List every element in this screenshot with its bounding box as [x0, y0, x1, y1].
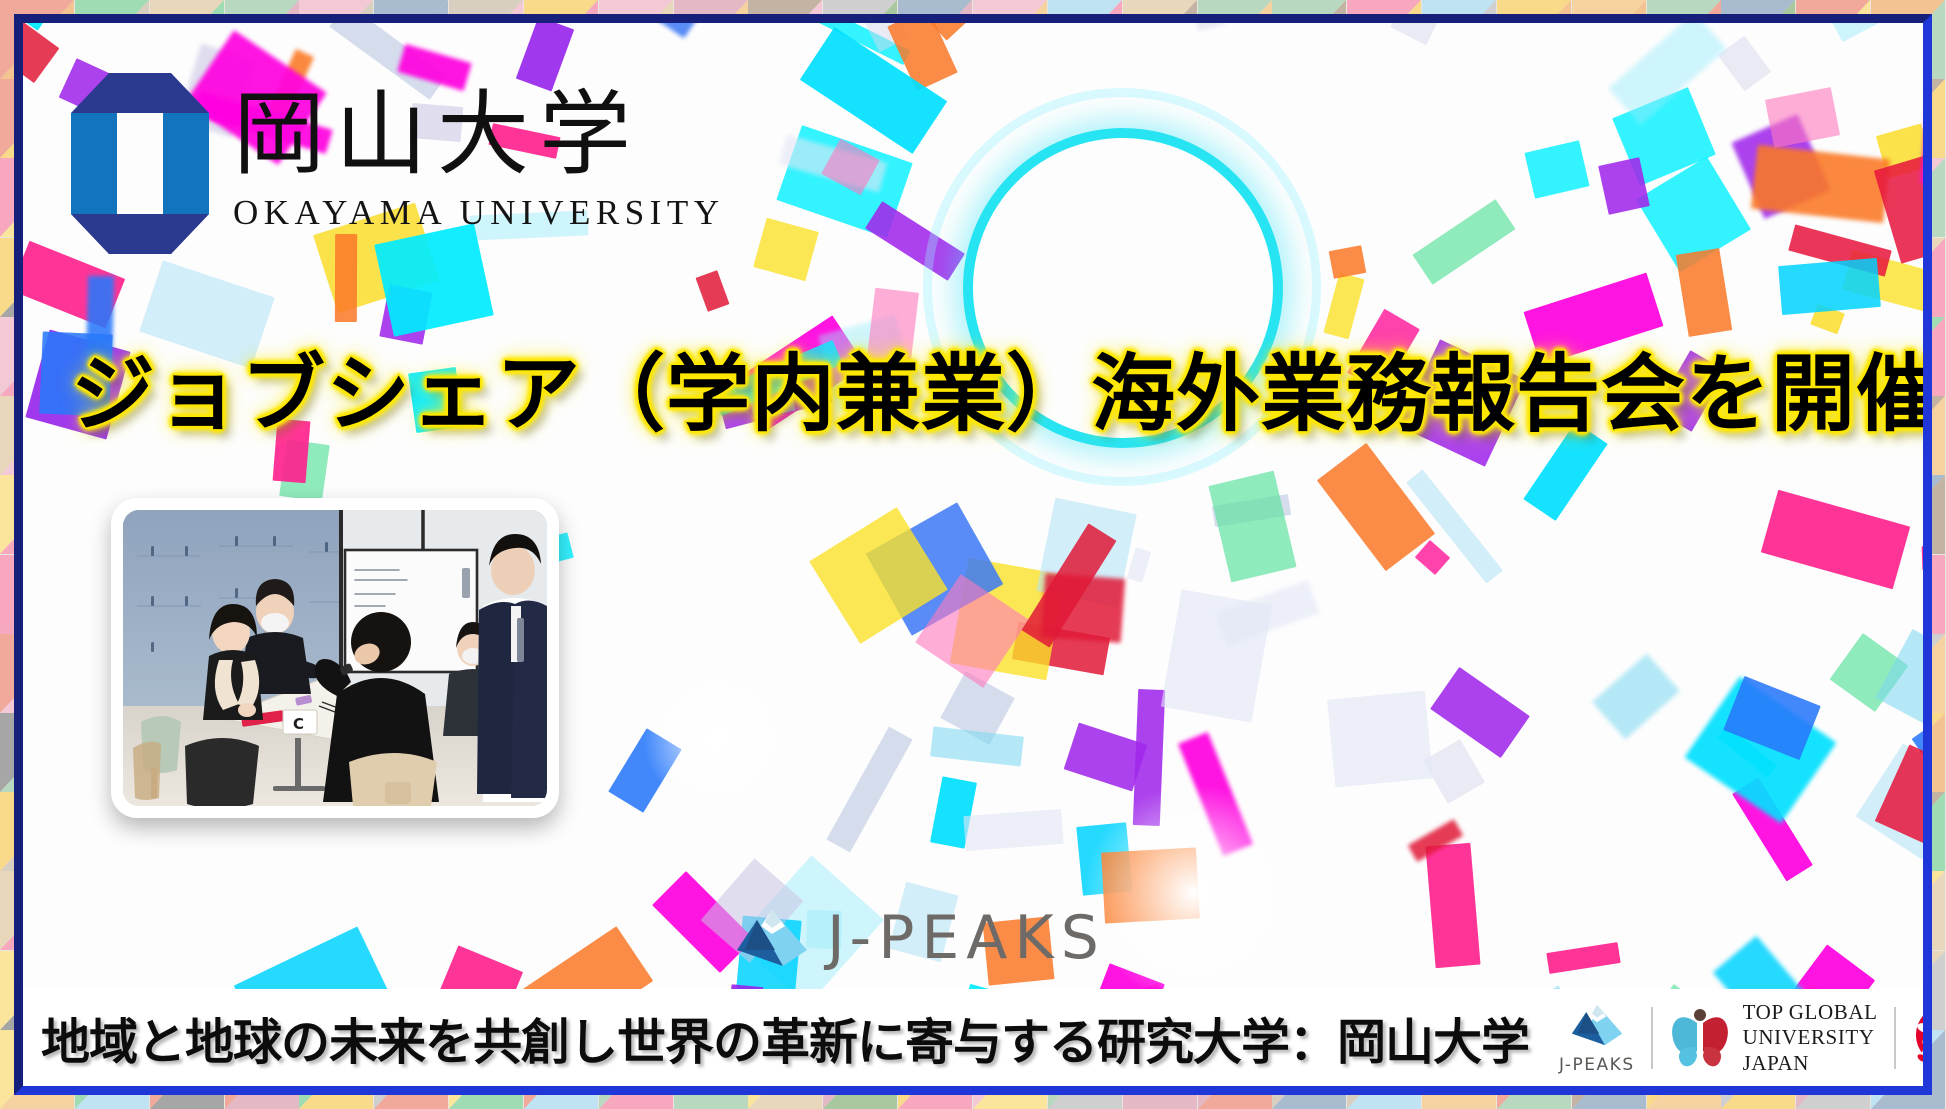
event-photo-card: C — [111, 498, 559, 818]
glow-dot — [643, 663, 793, 813]
j-peaks-mountain-icon — [1570, 1002, 1624, 1053]
glow-dot — [1083, 783, 1303, 1003]
page-title: ジョブシェア（学内兼業）海外業務報告会を開催 — [71, 349, 1871, 440]
header-university-logo: 岡山大学 OKAYAMA UNIVERSITY — [69, 71, 725, 256]
butterfly-icon — [1669, 1003, 1731, 1074]
footer-logo-j-peaks: J-PEAKS — [1543, 999, 1651, 1077]
j-peaks-mountain-icon — [735, 906, 809, 970]
university-name-en: OKAYAMA UNIVERSITY — [233, 193, 725, 233]
top-global-university-text: TOP GLOBAL UNIVERSITY JAPAN — [1743, 1000, 1878, 1077]
sakura-circle-icon — [1912, 1001, 1923, 1076]
footer-logo-japan-sdgs: Japan. Committed to the SDGs — [1896, 999, 1923, 1077]
okayama-octagon-logo-icon — [69, 71, 211, 256]
footer-logo-row: J-PEAKS — [1543, 999, 1923, 1077]
tgu-line-1: TOP GLOBAL — [1743, 1000, 1878, 1026]
footer-logo-top-global-university: TOP GLOBAL UNIVERSITY JAPAN — [1653, 999, 1894, 1077]
poster-root: 岡山大学 OKAYAMA UNIVERSITY ジョブシェア（学内兼業）海外業務… — [0, 0, 1946, 1109]
tgu-line-2: UNIVERSITY — [1743, 1025, 1878, 1051]
poster-card-inner: 岡山大学 OKAYAMA UNIVERSITY ジョブシェア（学内兼業）海外業務… — [23, 23, 1923, 1086]
header-university-text: 岡山大学 OKAYAMA UNIVERSITY — [233, 71, 725, 233]
tgu-line-3: JAPAN — [1743, 1051, 1878, 1077]
event-photo: C — [123, 510, 547, 806]
j-peaks-brand: J-PEAKS — [735, 903, 1106, 973]
j-peaks-wordmark: J-PEAKS — [827, 903, 1106, 973]
svg-text:C: C — [293, 715, 304, 733]
university-name-jp: 岡山大学 — [233, 89, 725, 181]
poster-card: 岡山大学 OKAYAMA UNIVERSITY ジョブシェア（学内兼業）海外業務… — [14, 14, 1932, 1095]
j-peaks-wordmark-small: J-PEAKS — [1559, 1055, 1635, 1075]
footer-banner: 地域と地球の未来を共創し世界の革新に寄与する研究大学：岡山大学 — [23, 989, 1923, 1086]
footer-tagline: 地域と地球の未来を共創し世界の革新に寄与する研究大学：岡山大学 — [41, 1003, 1529, 1074]
